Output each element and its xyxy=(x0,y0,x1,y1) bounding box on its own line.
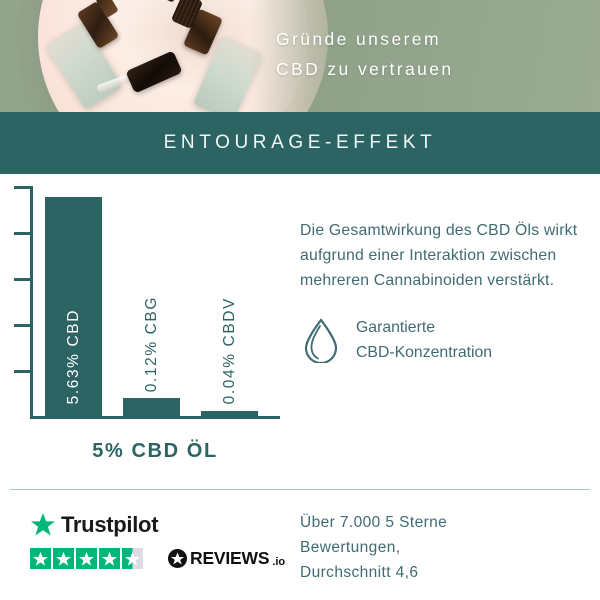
description-column: Die Gesamtwirkung des CBD Öls wirkt aufg… xyxy=(300,218,590,365)
star-square-2 xyxy=(53,548,74,569)
chart-title: 5% CBD ÖL xyxy=(30,440,280,463)
reviews-io-suffix: .io xyxy=(272,556,285,569)
y-axis-tick-3 xyxy=(14,278,32,281)
content-area: 5.63% CBD 0.12% CBG 0.04% CBDV 5% CBD ÖL… xyxy=(0,174,600,474)
star-square-1 xyxy=(30,548,51,569)
reviews-io-wordmark: REVIEWS xyxy=(190,548,269,569)
hero-banner: Gründe unserem CBD zu vertrauen xyxy=(0,0,600,112)
guarantee-line-1: Garantierte xyxy=(356,319,435,336)
review-summary-line-3: Durchschnitt 4,6 xyxy=(300,560,600,585)
guarantee-feature: Garantierte CBD-Konzentration xyxy=(300,315,590,365)
bar-cbdv xyxy=(201,411,258,418)
reviews-io-star-badge-icon xyxy=(168,549,187,568)
reviews-io-logo[interactable]: REVIEWS .io xyxy=(168,548,285,569)
review-badges: Trustpilot REVIEWS .io xyxy=(0,498,300,600)
y-axis-tick-5 xyxy=(14,186,32,189)
y-axis-tick-1 xyxy=(14,370,32,373)
star-square-5-half xyxy=(122,548,143,569)
footer: Trustpilot REVIEWS .io xyxy=(0,498,600,600)
trustpilot-star-rating xyxy=(30,548,143,569)
footer-divider xyxy=(10,489,590,490)
description-paragraph: Die Gesamtwirkung des CBD Öls wirkt aufg… xyxy=(300,218,590,293)
trustpilot-wordmark: Trustpilot xyxy=(61,512,158,538)
y-axis-tick-4 xyxy=(14,232,32,235)
bar-cbdv-label: 0.04% CBDV xyxy=(221,297,239,404)
review-summary: Über 7.000 5 Sterne Bewertungen, Durchsc… xyxy=(300,498,600,600)
review-summary-line-1: Über 7.000 5 Sterne xyxy=(300,510,600,535)
star-square-4 xyxy=(99,548,120,569)
hero-headline-line-2: CBD zu vertrauen xyxy=(276,54,576,84)
banner-title: ENTOURAGE-EFFEKT xyxy=(164,132,437,154)
bar-cbg-label: 0.12% CBG xyxy=(143,296,161,392)
guarantee-feature-text: Garantierte CBD-Konzentration xyxy=(356,315,492,365)
chart-bars: 5.63% CBD 0.12% CBG 0.04% CBDV xyxy=(33,186,280,418)
guarantee-line-2: CBD-Konzentration xyxy=(356,344,492,361)
trustpilot-star-icon xyxy=(30,512,56,538)
cbd-trust-infographic: Gründe unserem CBD zu vertrauen ENTOURAG… xyxy=(0,0,600,600)
cannabinoid-bar-chart: 5.63% CBD 0.12% CBG 0.04% CBDV 5% CBD ÖL xyxy=(0,182,290,432)
star-square-3 xyxy=(76,548,97,569)
hero-headline: Gründe unserem CBD zu vertrauen xyxy=(276,24,576,84)
hero-headline-line-1: Gründe unserem xyxy=(276,24,576,54)
droplet-icon xyxy=(300,317,342,363)
y-axis-tick-2 xyxy=(14,324,32,327)
bar-cbd-label: 5.63% CBD xyxy=(65,309,83,404)
trustpilot-logo[interactable]: Trustpilot xyxy=(30,512,158,538)
review-summary-line-2: Bewertungen, xyxy=(300,535,600,560)
bar-cbg xyxy=(123,398,180,418)
section-banner: ENTOURAGE-EFFEKT xyxy=(0,112,600,174)
